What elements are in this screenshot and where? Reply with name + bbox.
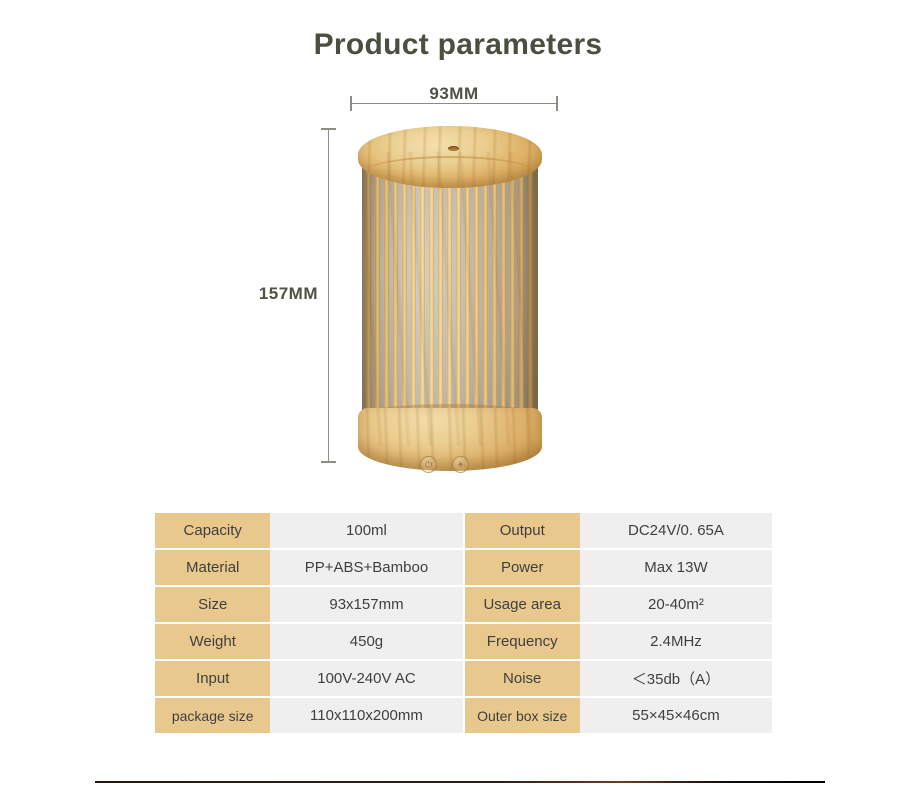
spec-label: Frequency [465, 624, 580, 659]
spec-label: Usage area [465, 587, 580, 622]
width-dimension-cap-right [556, 96, 558, 111]
power-button-icon: ⏻ [420, 456, 437, 473]
spec-value: 450g [270, 624, 462, 659]
height-dimension-cap-top [321, 128, 336, 130]
light-glyph: ☀ [456, 460, 464, 469]
spec-label: Capacity [155, 513, 270, 548]
height-dimension-label: 157MM [238, 284, 318, 304]
width-dimension-label: 93MM [350, 84, 558, 104]
table-row: Input 100V-240V AC Noise ＜35db（A） [155, 661, 772, 696]
table-row: Weight 450g Frequency 2.4MHz [155, 624, 772, 659]
power-glyph: ⏻ [425, 460, 432, 469]
spec-value: Max 13W [580, 550, 772, 585]
spec-label: Size [155, 587, 270, 622]
spec-label: package size [155, 698, 270, 733]
product-image: ⏻ ☀ [358, 126, 542, 471]
spec-value: 20-40m² [580, 587, 772, 622]
height-dimension-cap-bottom [321, 461, 336, 463]
spec-label: Material [155, 550, 270, 585]
spec-value: 93x157mm [270, 587, 462, 622]
spec-value: 100V-240V AC [270, 661, 462, 696]
spec-label: Weight [155, 624, 270, 659]
spec-value: DC24V/0. 65A [580, 513, 772, 548]
table-row: package size 110x110x200mm Outer box siz… [155, 698, 772, 733]
width-dimension-line [350, 103, 558, 104]
spec-value: ＜35db（A） [580, 661, 772, 696]
spec-label: Noise [465, 661, 580, 696]
product-figure: 93MM 157MM ⏻ ☀ [0, 0, 916, 500]
light-button-icon: ☀ [452, 456, 469, 473]
table-row: Capacity 100ml Output DC24V/0. 65A [155, 513, 772, 548]
spec-value: 55×45×46cm [580, 698, 772, 733]
height-dimension-line [328, 128, 329, 463]
spec-value: 2.4MHz [580, 624, 772, 659]
product-wood-slats [362, 152, 538, 446]
width-dimension-cap-left [350, 96, 352, 111]
spec-table: Capacity 100ml Output DC24V/0. 65A Mater… [155, 513, 772, 733]
mist-outlet-hole [448, 146, 459, 151]
spec-value: 110x110x200mm [270, 698, 462, 733]
spec-value: PP+ABS+Bamboo [270, 550, 462, 585]
spec-value: 100ml [270, 513, 462, 548]
spec-label: Input [155, 661, 270, 696]
spec-label: Output [465, 513, 580, 548]
spec-label: Power [465, 550, 580, 585]
table-row: Material PP+ABS+Bamboo Power Max 13W [155, 550, 772, 585]
bottom-divider [95, 781, 825, 783]
table-row: Size 93x157mm Usage area 20-40m² [155, 587, 772, 622]
spec-label: Outer box size [465, 698, 580, 733]
